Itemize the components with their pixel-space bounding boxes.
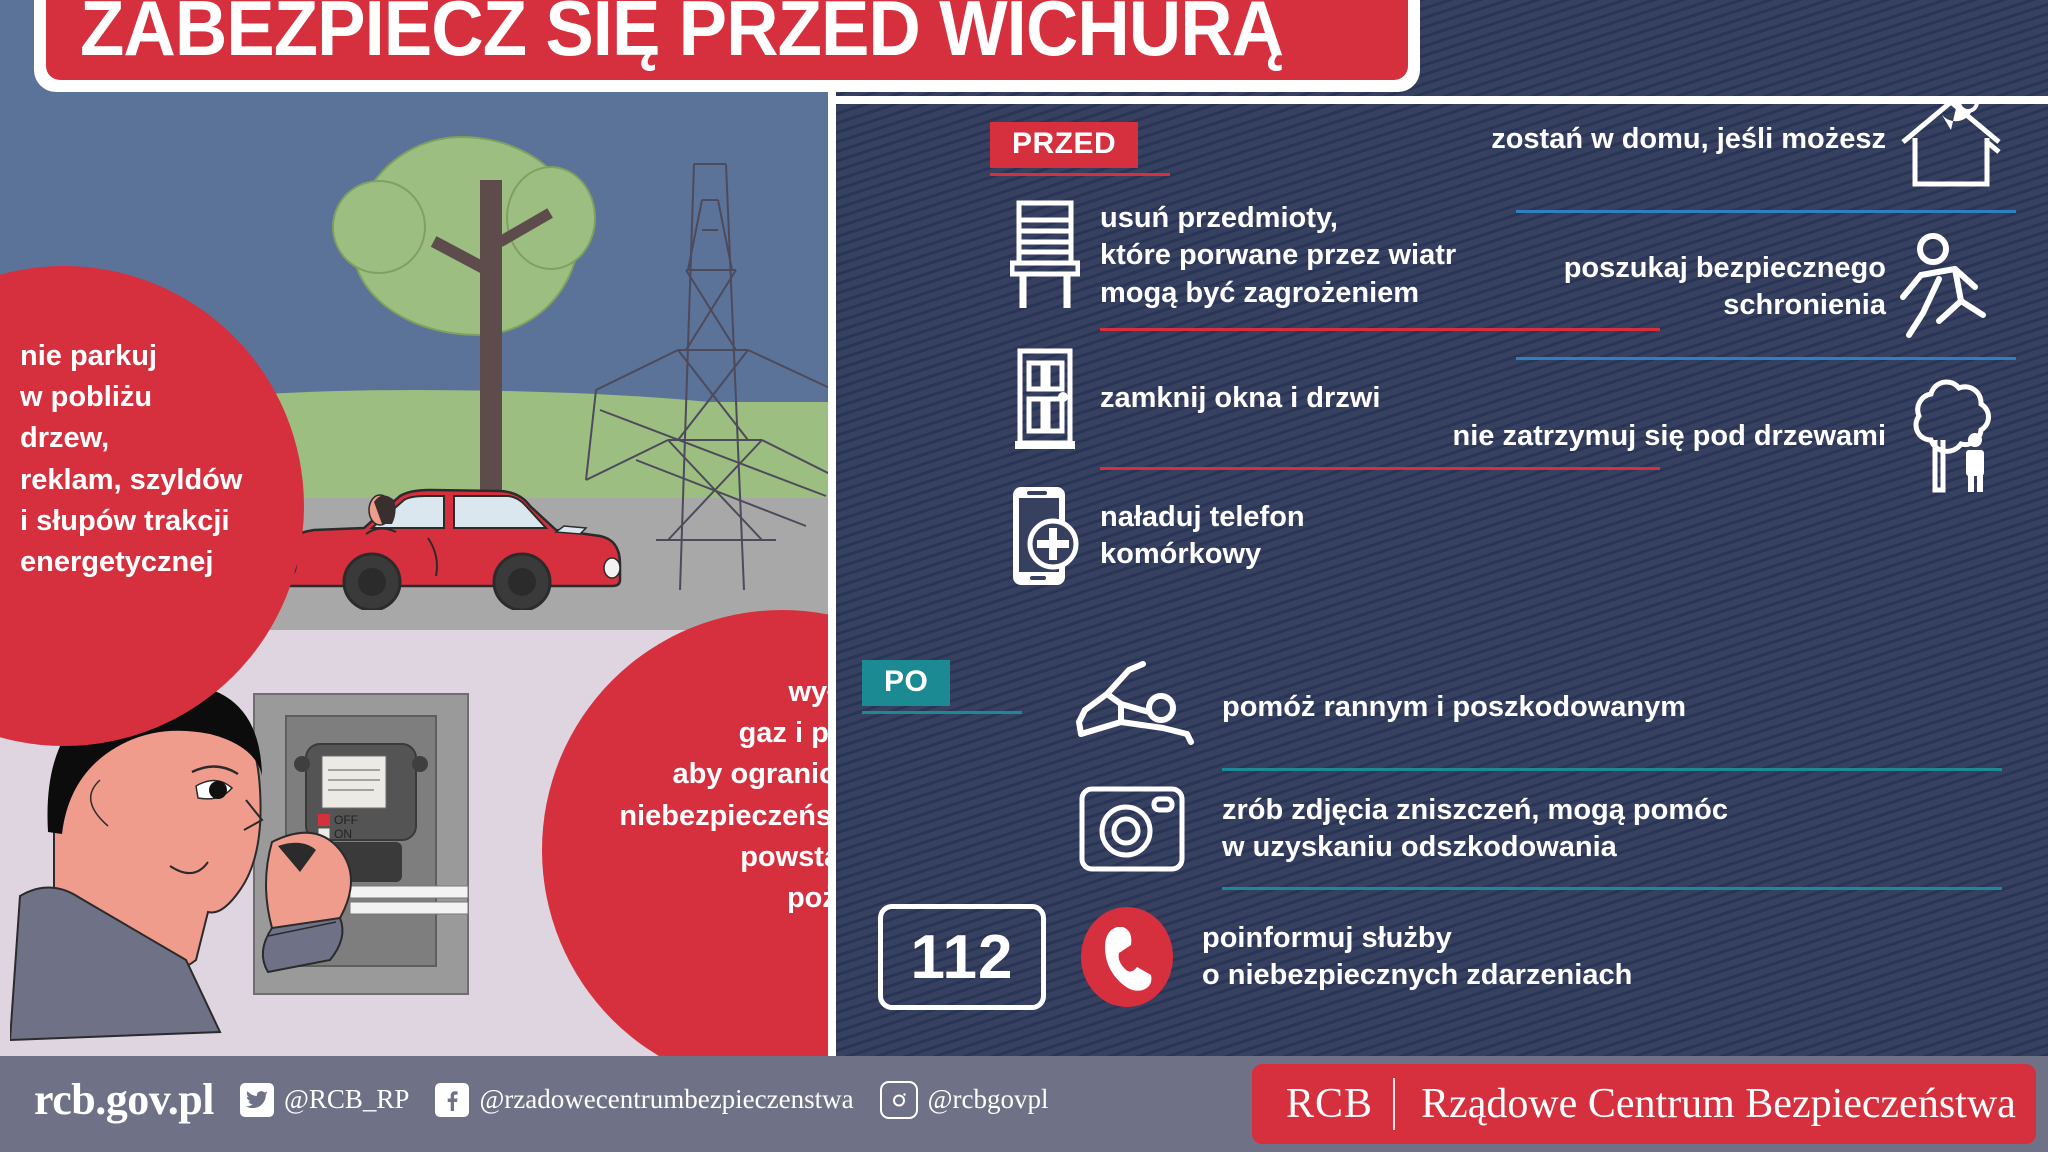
rcb-logo: RCB Rządowe Centrum Bezpieczeństwa <box>1252 1064 2036 1144</box>
emergency-number-112: 112 <box>910 922 1013 993</box>
po-rule-1 <box>1222 768 2002 771</box>
podczas-item-find-shelter: poszukaj bezpiecznego schronienia <box>1396 231 2016 343</box>
podczas-item-avoid-trees-label: nie zatrzymuj się pod drzewami <box>1453 418 1887 455</box>
rcb-abbreviation: RCB <box>1252 1080 1393 1128</box>
social-instagram[interactable]: @rcbgovpl <box>880 1081 1049 1119</box>
running-person-icon <box>1886 231 2016 343</box>
instagram-icon <box>880 1081 918 1119</box>
badge-przed: PRZED <box>990 122 1138 168</box>
przed-item-close-windows-label: zamknij okna i drzwi <box>1100 380 1380 417</box>
twitter-handle: @RCB_RP <box>284 1084 409 1115</box>
website-link[interactable]: rcb.gov.pl <box>34 1074 214 1125</box>
house-pin-icon <box>1886 104 2016 196</box>
po-item-take-photos-label: zrób zdjęcia zniszczeń, mogą pomóc w uzy… <box>1222 792 1728 866</box>
podczas-rule-2 <box>1516 357 2016 360</box>
podczas-item-avoid-trees: nie zatrzymuj się pod drzewami <box>1396 378 2016 496</box>
tree-crown <box>352 136 580 336</box>
mobile-phone-charge-icon <box>990 484 1100 588</box>
camera-icon <box>1042 783 1222 875</box>
emergency-number-box: 112 <box>872 904 1052 1010</box>
po-item-help-injured-label: pomóż rannym i poszkodowanym <box>1222 689 1686 726</box>
social-facebook[interactable]: @rzadowecentrumbezpieczenstwa <box>435 1083 853 1117</box>
section-po: PO <box>842 660 2032 1010</box>
badge-po-rule <box>862 711 1022 714</box>
podczas-item-find-shelter-label: poszukaj bezpiecznego schronienia <box>1396 250 1886 324</box>
podczas-rule-1 <box>1516 210 2016 213</box>
badge-przed-rule <box>990 173 1170 176</box>
page-title: ZABEZPIECZ SIĘ PRZED WICHURĄ <box>80 0 1283 66</box>
rcb-full-name: Rządowe Centrum Bezpieczeństwa <box>1395 1080 2016 1128</box>
social-twitter[interactable]: @RCB_RP <box>240 1083 409 1117</box>
advice-panel: PRZED usuń przedmioty, które porwane prz… <box>836 104 2048 1056</box>
injured-person-icon <box>1042 660 1222 756</box>
tree-person-icon <box>1886 378 2016 496</box>
door-icon <box>990 347 1100 451</box>
callout-no-parking-text: nie parkuj w pobliżu drzew, reklam, szyl… <box>20 336 320 583</box>
po-item-notify-services: 112 poinformuj służby o niebezpiecznych … <box>1042 904 2032 1010</box>
badge-po: PO <box>862 660 950 706</box>
przed-item-charge-phone: naładuj telefon komórkowy <box>990 484 1630 588</box>
infographic-root: OFF ON <box>0 0 2048 1152</box>
podczas-item-stay-home-label: zostań w domu, jeśli możesz <box>1491 121 1886 158</box>
po-item-notify-services-label: poinformuj służby o niebezpiecznych zdar… <box>1202 920 1632 994</box>
emergency-phone-icon <box>1052 905 1202 1009</box>
section-podczas: PODCZAS zostań w domu, jeśli możesz <box>1396 104 2016 496</box>
tree-trunk <box>480 180 502 520</box>
red-car-illustration <box>268 480 628 610</box>
facebook-handle: @rzadowecentrumbezpieczenstwa <box>479 1084 853 1115</box>
title-banner: ZABEZPIECZ SIĘ PRZED WICHURĄ <box>34 0 1420 92</box>
twitter-icon <box>240 1083 274 1117</box>
instagram-handle: @rcbgovpl <box>928 1084 1049 1115</box>
po-rule-2 <box>1222 887 2002 890</box>
facebook-icon <box>435 1083 469 1117</box>
chair-icon <box>990 200 1100 312</box>
podczas-item-stay-home: zostań w domu, jeśli możesz <box>1396 104 2016 196</box>
przed-item-charge-phone-label: naładuj telefon komórkowy <box>1100 499 1305 573</box>
po-item-help-injured: pomóż rannym i poszkodowanym <box>1042 660 2032 756</box>
po-item-take-photos: zrób zdjęcia zniszczeń, mogą pomóc w uzy… <box>1042 783 2032 875</box>
